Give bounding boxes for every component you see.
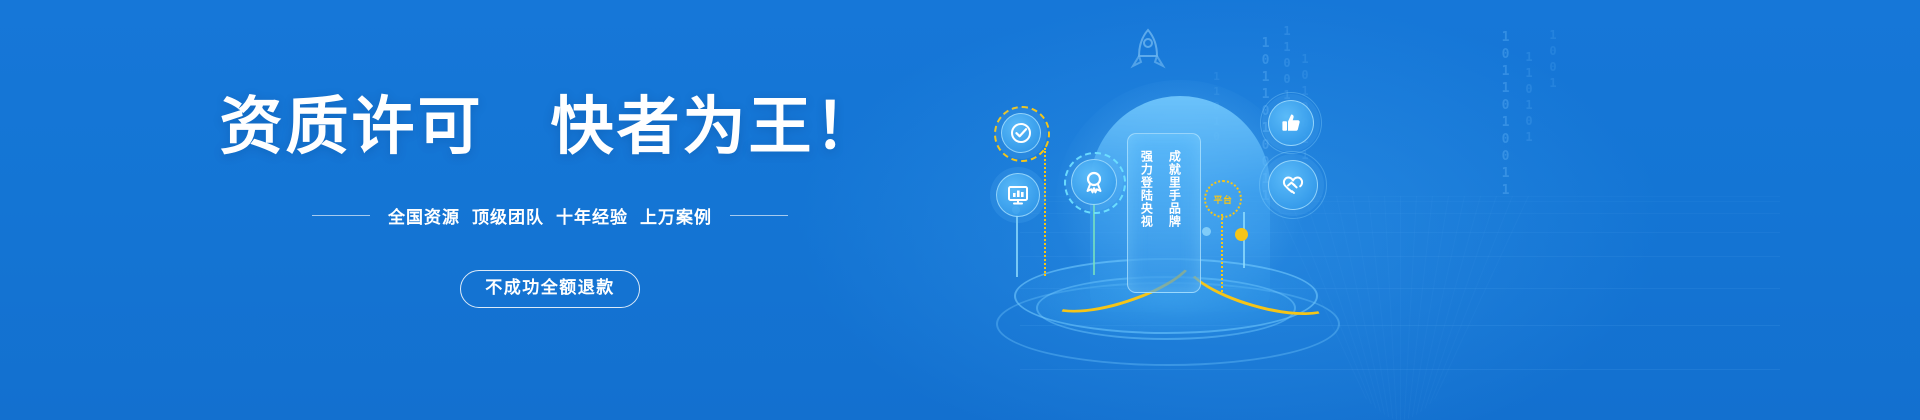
connector-platform-stem	[1221, 214, 1223, 292]
copy-block: 资质许可 快者为王！ 全国资源顶级团队十年经验上万案例 不成功全额退款	[0, 0, 1100, 420]
award-medal-icon[interactable]	[1071, 159, 1117, 205]
connector-dot-cyan	[1202, 227, 1211, 236]
handshake-icon[interactable]	[1268, 160, 1318, 210]
subtitle-rule-right	[730, 215, 788, 216]
check-circle-icon[interactable]	[1001, 113, 1041, 153]
binary-digits-5: 110101	[1522, 50, 1536, 146]
subtitle-text: 全国资源顶级团队十年经验上万案例	[388, 203, 712, 228]
monitor-chart-icon[interactable]	[996, 173, 1040, 217]
headline-part-1: 资质许可	[219, 92, 483, 162]
card-slogan-right: 成就里手品牌	[1166, 150, 1181, 228]
subtitle-item-1: 顶级团队	[472, 208, 544, 227]
promo-banner: 1011010011 11001 1010011 1011010011 1101…	[0, 0, 1920, 420]
thumbs-up-icon[interactable]	[1268, 100, 1314, 146]
connector-chart-stem	[1016, 215, 1018, 277]
binary-digits-4: 1011010011	[1498, 30, 1513, 200]
slogan-card: 强力登陆央视 成就里手品牌	[1127, 133, 1201, 293]
subtitle-item-3: 上万案例	[640, 208, 712, 227]
subtitle-item-0: 全国资源	[388, 208, 460, 227]
platform-label-text: 平台	[1213, 193, 1232, 206]
cta-row: 不成功全额退款	[0, 270, 1100, 308]
refund-guarantee-button[interactable]: 不成功全额退款	[460, 270, 640, 308]
subtitle-item-2: 十年经验	[556, 208, 628, 227]
connector-check-stem	[1044, 148, 1046, 276]
page-title: 资质许可 快者为王！	[0, 96, 1100, 159]
headline-part-2: 快者为王！	[551, 92, 881, 162]
connector-dot-yellow	[1235, 228, 1248, 241]
rocket-icon	[1128, 28, 1168, 76]
subtitle-rule-left	[312, 215, 370, 216]
binary-digits-6: 1001	[1546, 28, 1560, 92]
card-slogan-left: 强力登陆央视	[1138, 150, 1153, 228]
platform-label-bubble: 平台	[1204, 180, 1242, 218]
subtitle-row: 全国资源顶级团队十年经验上万案例	[0, 203, 1100, 228]
